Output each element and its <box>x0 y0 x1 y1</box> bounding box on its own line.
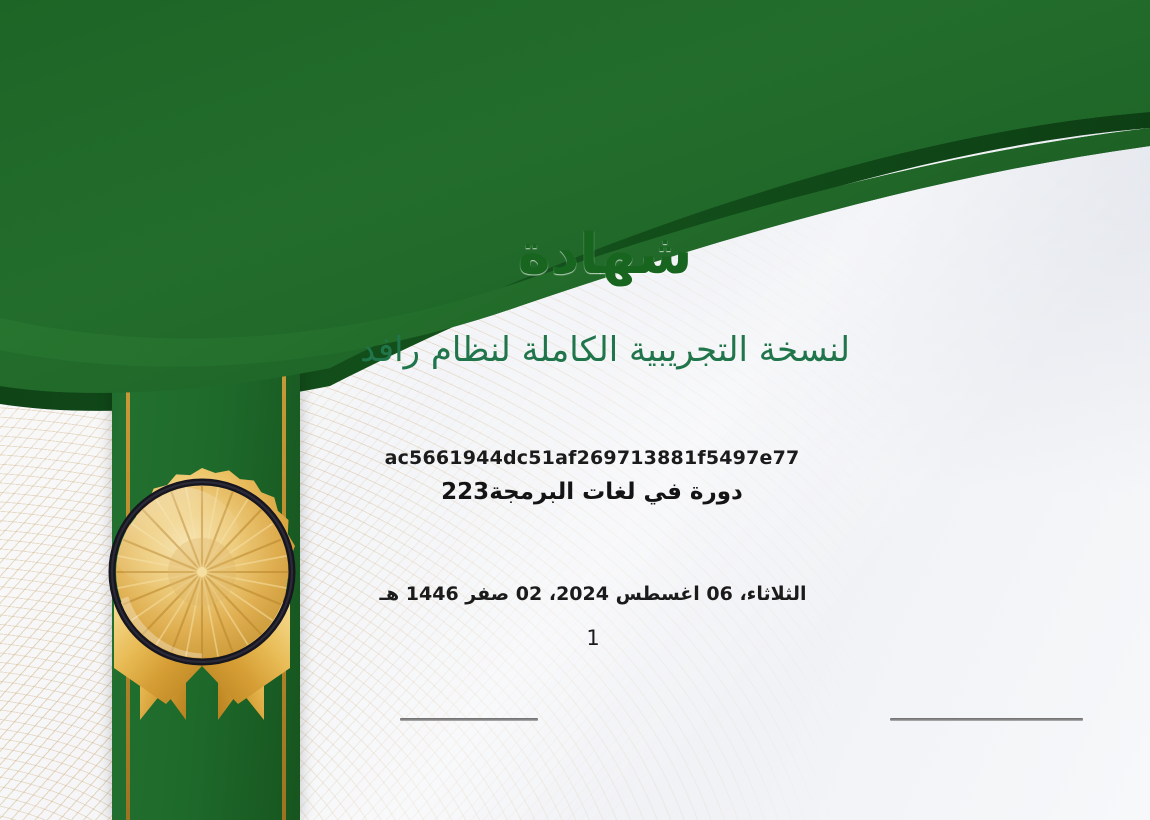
page-title: شهادة <box>0 222 1150 287</box>
course-name: دورة في لغات البرمجة223 <box>0 479 1150 505</box>
page-number: 1 <box>0 626 1150 650</box>
issue-date: الثلاثاء، 06 اغسطس 2024، 02 صفر 1446 هـ <box>0 583 1150 605</box>
certificate-page: شهادة لنسخة التجريبية الكاملة لنظام رافد… <box>0 0 1150 820</box>
signature-line-left <box>400 718 538 721</box>
certificate-content: شهادة لنسخة التجريبية الكاملة لنظام رافد… <box>0 0 1150 820</box>
verification-hash: ac5661944dc51af269713881f5497e77 <box>0 447 1150 469</box>
signature-line-right <box>890 718 1083 721</box>
certificate-subtitle: لنسخة التجريبية الكاملة لنظام رافد <box>0 330 1150 370</box>
